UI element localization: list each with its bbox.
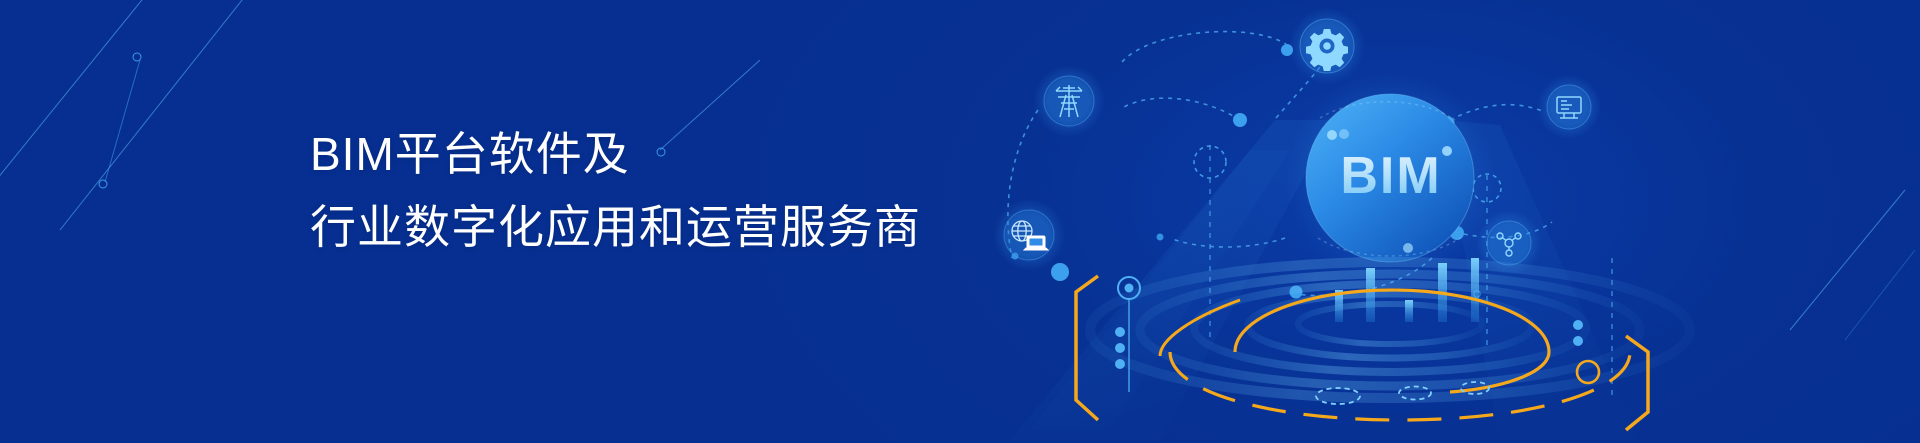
- globe-laptop-icon: [993, 199, 1065, 271]
- bim-sphere-label: BIM: [1306, 146, 1476, 206]
- headline-line-1: BIM平台软件及: [310, 126, 630, 182]
- monitor-icon: [1537, 75, 1601, 139]
- gear-icon: [1289, 8, 1365, 84]
- banner-illustration: [0, 0, 1920, 443]
- banner-hero: BIM平台软件及 行业数字化应用和运营服务商 BIM: [0, 0, 1920, 443]
- transmission-tower-icon: [1033, 65, 1105, 137]
- headline-line-2: 行业数字化应用和运营服务商: [310, 199, 921, 255]
